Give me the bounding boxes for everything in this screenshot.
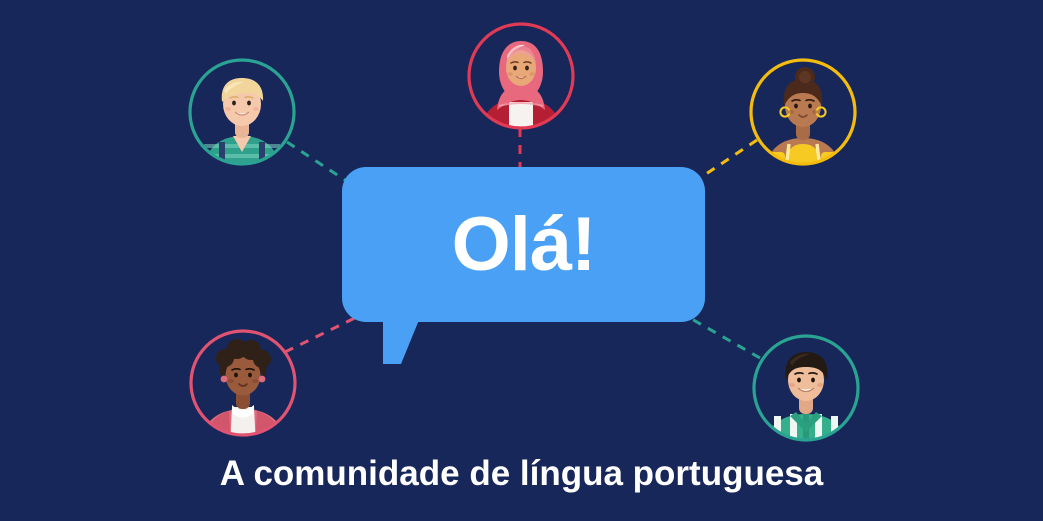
avatar-top-left[interactable]: [186, 56, 298, 168]
speech-bubble-text: Olá!: [342, 167, 705, 322]
avatar-top-right[interactable]: [747, 56, 859, 168]
speech-bubble-tail: [383, 320, 419, 364]
avatar-top-center[interactable]: [465, 20, 577, 132]
avatar-bottom-right[interactable]: [750, 332, 862, 444]
illustration-canvas: Olá! A comunidade de língua portuguesa: [0, 0, 1043, 521]
avatar-bottom-left[interactable]: [187, 327, 299, 439]
caption-text: A comunidade de língua portuguesa: [0, 455, 1043, 494]
